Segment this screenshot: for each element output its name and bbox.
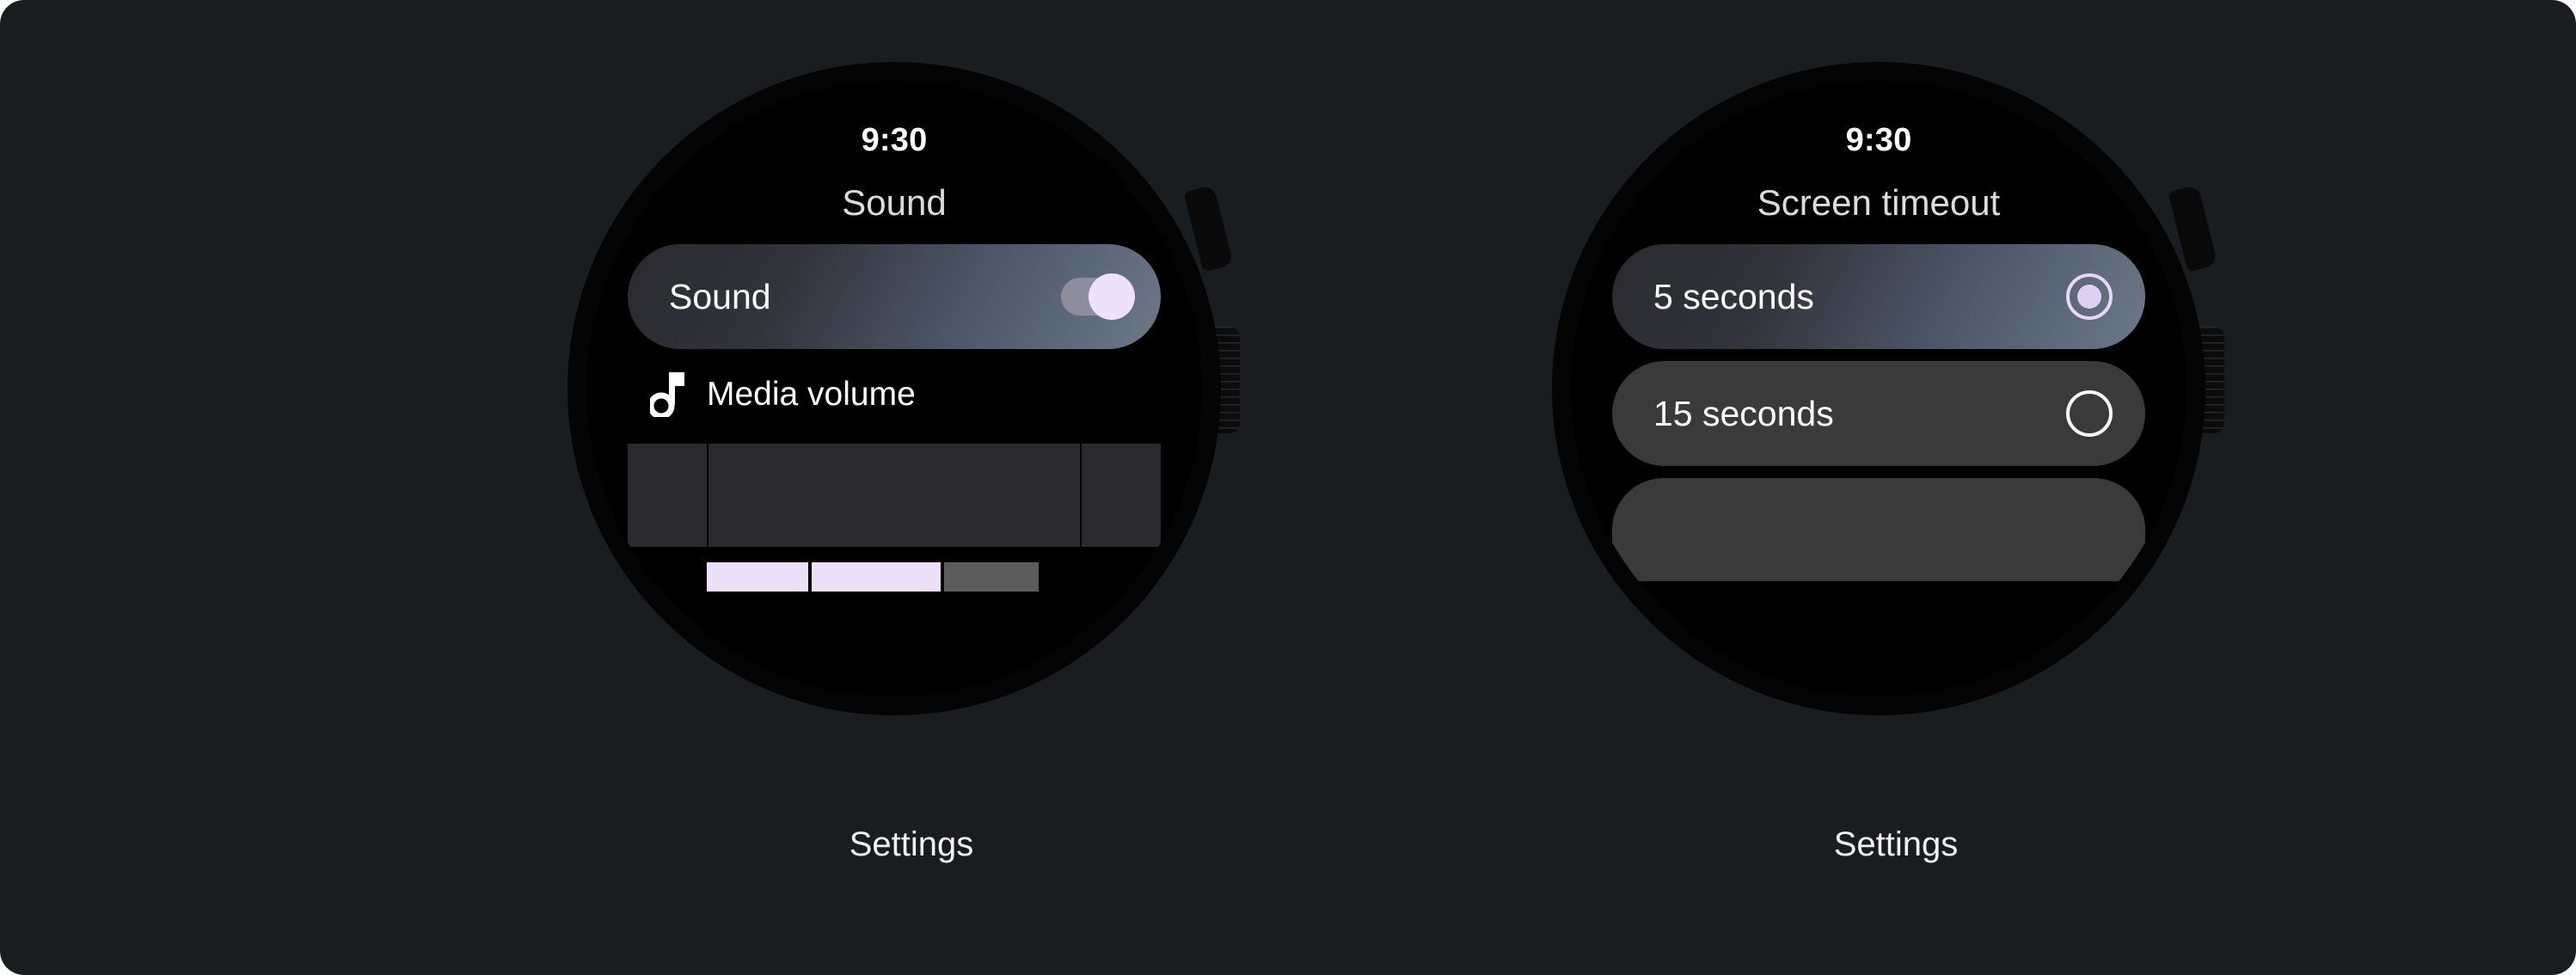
list-item-timeout-15-seconds[interactable]: 15 seconds — [1612, 361, 2145, 466]
settings-list: 5 seconds 15 seconds — [1571, 244, 2187, 581]
list-item-sound-toggle[interactable]: Sound — [628, 244, 1161, 349]
list-item-label: 5 seconds — [1653, 277, 2066, 317]
volume-segment — [944, 562, 1039, 592]
screen-title: Sound — [586, 182, 1202, 224]
list-item-next-partial[interactable] — [1612, 478, 2145, 581]
watch-caption: Settings — [1509, 825, 2283, 864]
list-item-label: 15 seconds — [1653, 394, 2066, 434]
sound-toggle-switch[interactable] — [1061, 278, 1128, 316]
screen-title: Screen timeout — [1571, 182, 2187, 224]
stepper-increase-cell[interactable] — [1082, 444, 1161, 547]
watch-screen: 9:30 Sound Sound — [586, 81, 1202, 696]
stepper-decrease-cell[interactable] — [628, 444, 707, 547]
status-bar-time: 9:30 — [586, 122, 1202, 159]
radio-button-selected[interactable] — [2066, 273, 2113, 320]
music-note-icon — [650, 372, 688, 417]
volume-segment — [812, 562, 941, 592]
watch-screen: 9:30 Screen timeout 5 seconds 15 seconds — [1571, 81, 2187, 696]
watch-caption: Settings — [524, 825, 1298, 864]
volume-stepper-panel[interactable] — [628, 444, 1161, 547]
list-item-label: Sound — [669, 277, 1061, 317]
page-canvas: 9:30 Sound Sound — [0, 0, 2576, 975]
list-item-timeout-5-seconds[interactable]: 5 seconds — [1612, 244, 2145, 349]
volume-level-meter[interactable] — [628, 562, 1161, 592]
status-bar-time: 9:30 — [1571, 122, 2187, 159]
radio-button-unselected[interactable] — [2066, 390, 2113, 437]
list-item-label: Media volume — [707, 376, 916, 414]
watch-preview-screen-timeout: 9:30 Screen timeout 5 seconds 15 seconds — [1509, 0, 2283, 975]
toggle-thumb — [1089, 273, 1135, 320]
stepper-value-cell — [707, 444, 1082, 547]
watch-preview-sound: 9:30 Sound Sound — [524, 0, 1298, 975]
watch-device: 9:30 Screen timeout 5 seconds 15 seconds — [1552, 62, 2205, 715]
list-item-media-volume[interactable]: Media volume — [628, 365, 1161, 425]
volume-segment — [707, 562, 808, 592]
settings-list: Sound — [586, 244, 1202, 592]
watch-device: 9:30 Sound Sound — [567, 62, 1221, 715]
